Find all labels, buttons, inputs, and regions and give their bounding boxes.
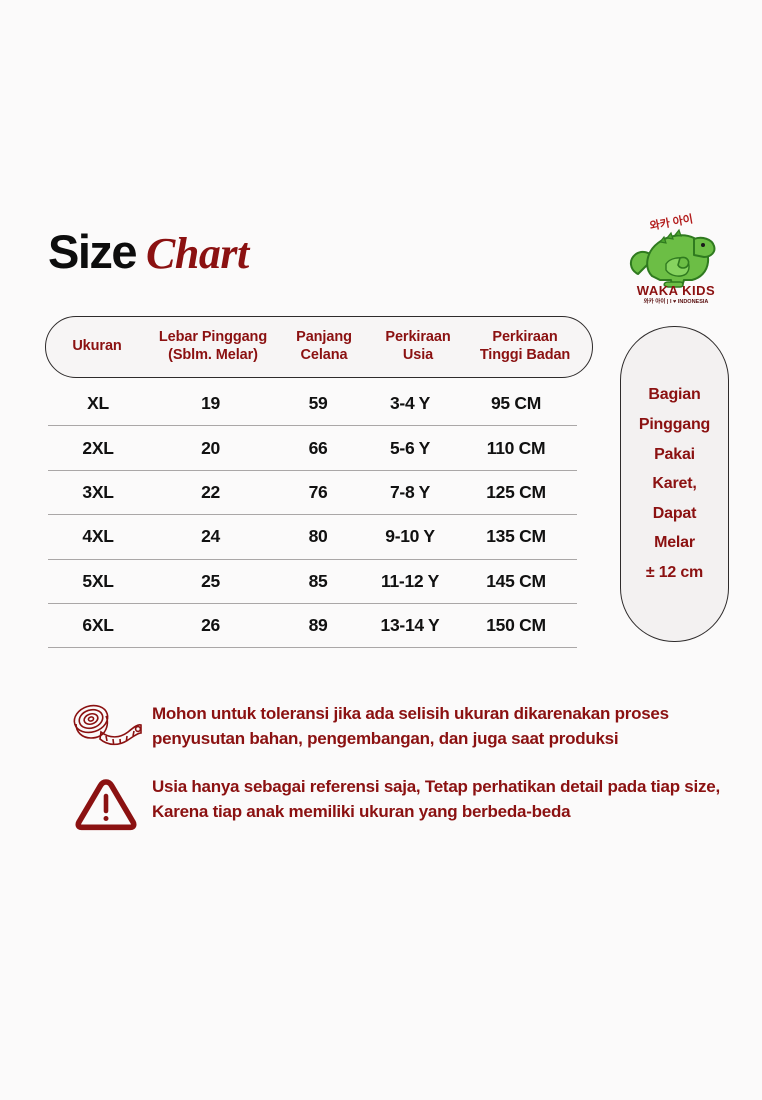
waistband-note-pill: Bagian Pinggang Pakai Karet, Dapat Melar… [620,326,729,642]
column-header-tinggi-badan: Perkiraan Tinggi Badan [466,329,584,364]
title-primary: Size [48,228,136,275]
cell-tinggi-badan: 95 CM [457,393,575,414]
cell-ukuran: 5XL [48,571,148,592]
waistband-note-line: Pinggang [639,410,710,440]
notes-section: Mohon untuk toleransi jika ada selisih u… [60,700,720,857]
table-row: 3XL 22 76 7-8 Y 125 CM [48,471,577,515]
waistband-note-line: ± 12 cm [646,558,703,588]
cell-tinggi-badan: 135 CM [457,526,575,547]
cell-ukuran: 4XL [48,526,148,547]
waistband-note-line: Pakai [654,440,695,470]
cell-tinggi-badan: 145 CM [457,571,575,592]
cell-tinggi-badan: 125 CM [457,482,575,503]
note-age-reference: Usia hanya sebagai referensi saja, Tetap… [60,773,720,835]
page-title: Size Chart [48,228,249,276]
waistband-note-line: Dapat [653,499,696,529]
cell-tinggi-badan: 110 CM [457,438,575,459]
table-row: XL 19 59 3-4 Y 95 CM [48,382,577,426]
cell-panjang-celana: 66 [273,438,363,459]
title-secondary: Chart [146,232,249,276]
note-text: Mohon untuk toleransi jika ada selisih u… [152,700,720,751]
cell-perkiraan-usia: 7-8 Y [363,482,457,503]
warning-triangle-icon [60,773,152,835]
measuring-tape-icon [60,700,152,750]
column-header-panjang-celana: Panjang Celana [278,329,370,364]
cell-perkiraan-usia: 13-14 Y [363,615,457,636]
brand-tagline: 와카 아이 | I ♥ INDONESIA [644,297,709,304]
table-row: 2XL 20 66 5-6 Y 110 CM [48,426,577,470]
waistband-note-line: Bagian [648,380,700,410]
size-table: Ukuran Lebar Pinggang (Sblm. Melar) Panj… [45,316,593,648]
note-tolerance: Mohon untuk toleransi jika ada selisih u… [60,700,720,751]
cell-ukuran: XL [48,393,148,414]
cell-panjang-celana: 76 [273,482,363,503]
table-row: 6XL 26 89 13-14 Y 150 CM [48,604,577,648]
column-header-ukuran: Ukuran [46,338,148,356]
cell-ukuran: 6XL [48,615,148,636]
table-row: 5XL 25 85 11-12 Y 145 CM [48,560,577,604]
brand-logo: 와카 아이 WAKA KIDS 와카 아이 | I ♥ INDONESIA [624,212,728,304]
cell-perkiraan-usia: 11-12 Y [363,571,457,592]
cell-perkiraan-usia: 5-6 Y [363,438,457,459]
cell-ukuran: 3XL [48,482,148,503]
table-row: 4XL 24 80 9-10 Y 135 CM [48,515,577,559]
cell-panjang-celana: 89 [273,615,363,636]
size-chart-page: Size Chart [0,0,762,1100]
cell-lebar-pinggang: 24 [148,526,273,547]
cell-tinggi-badan: 150 CM [457,615,575,636]
note-text: Usia hanya sebagai referensi saja, Tetap… [152,773,720,824]
cell-ukuran: 2XL [48,438,148,459]
cell-perkiraan-usia: 3-4 Y [363,393,457,414]
cell-panjang-celana: 80 [273,526,363,547]
brand-name: WAKA KIDS [637,283,715,298]
cell-perkiraan-usia: 9-10 Y [363,526,457,547]
cell-lebar-pinggang: 26 [148,615,273,636]
column-header-lebar-pinggang: Lebar Pinggang (Sblm. Melar) [148,329,278,364]
table-body: XL 19 59 3-4 Y 95 CM 2XL 20 66 5-6 Y 110… [45,382,593,648]
waistband-note-line: Karet, [652,469,696,499]
cell-panjang-celana: 59 [273,393,363,414]
dinosaur-icon [631,230,715,287]
cell-panjang-celana: 85 [273,571,363,592]
cell-lebar-pinggang: 25 [148,571,273,592]
brand-korean-top: 와카 아이 [649,212,694,233]
cell-lebar-pinggang: 19 [148,393,273,414]
table-header-row: Ukuran Lebar Pinggang (Sblm. Melar) Panj… [45,316,593,378]
waistband-note-line: Melar [654,528,695,558]
cell-lebar-pinggang: 22 [148,482,273,503]
column-header-perkiraan-usia: Perkiraan Usia [370,329,466,364]
cell-lebar-pinggang: 20 [148,438,273,459]
